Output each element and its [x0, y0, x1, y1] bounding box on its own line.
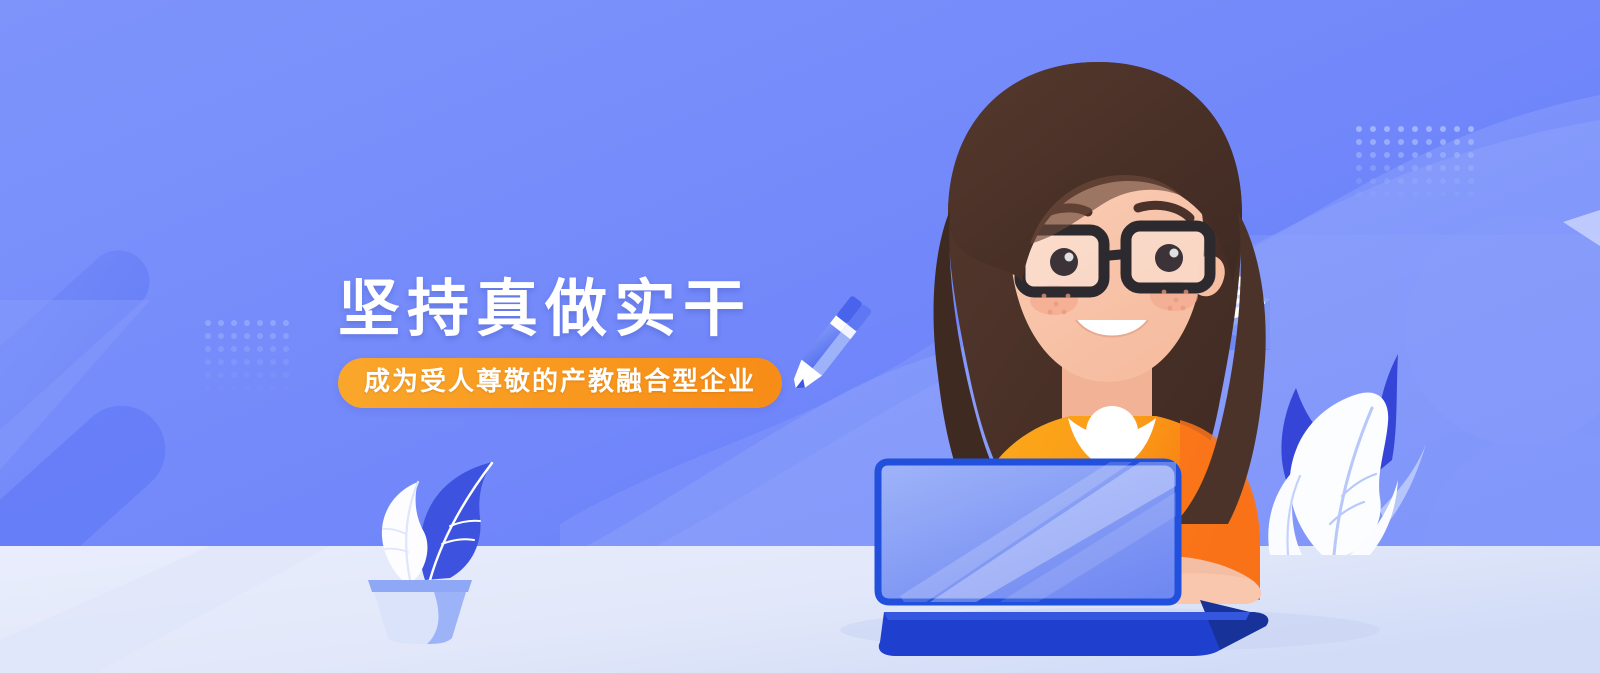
- subtitle-badge-row: 成为受人尊敬的产教融合型企业: [338, 358, 868, 408]
- page-title: 坚持真做实干: [338, 277, 868, 342]
- dot-grid-left-icon: [205, 320, 296, 398]
- dot-grid-right-icon: [1356, 126, 1482, 204]
- hero-text-block: 坚持真做实干 成为受人尊敬的产教融合型企业: [338, 277, 868, 408]
- subtitle-badge: 成为受人尊敬的产教融合型企业: [338, 358, 782, 408]
- hero-banner: 坚持真做实干 成为受人尊敬的产教融合型企业: [0, 0, 1600, 673]
